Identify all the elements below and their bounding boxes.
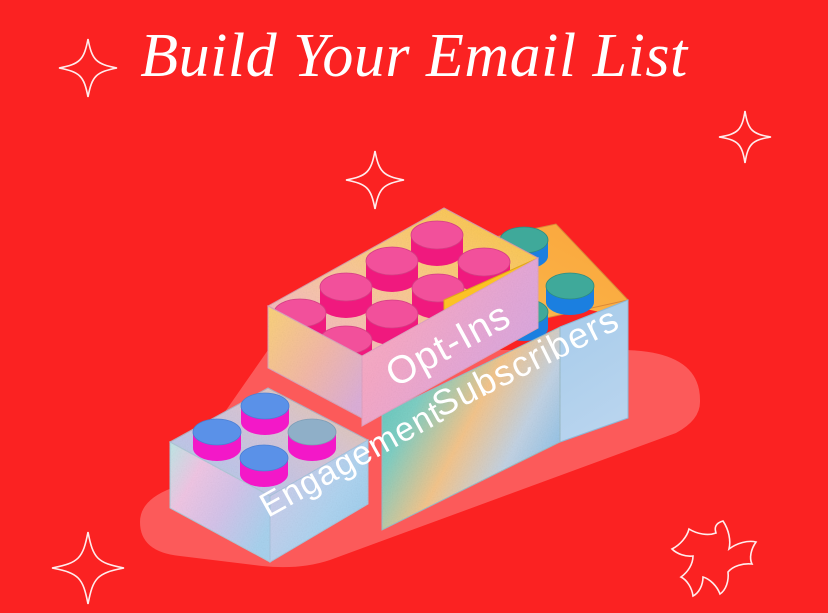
sparkle-top-right-icon <box>719 111 771 163</box>
sparkle-bottom-left-icon <box>52 532 124 604</box>
sparkle-top-left-icon <box>59 39 117 97</box>
isometric-lego-illustration: Subscribers <box>0 0 828 613</box>
flower-bottom-right-icon <box>672 521 756 596</box>
sparkle-mid-top-icon <box>346 151 404 209</box>
poster-canvas: Subscribers <box>0 0 828 613</box>
